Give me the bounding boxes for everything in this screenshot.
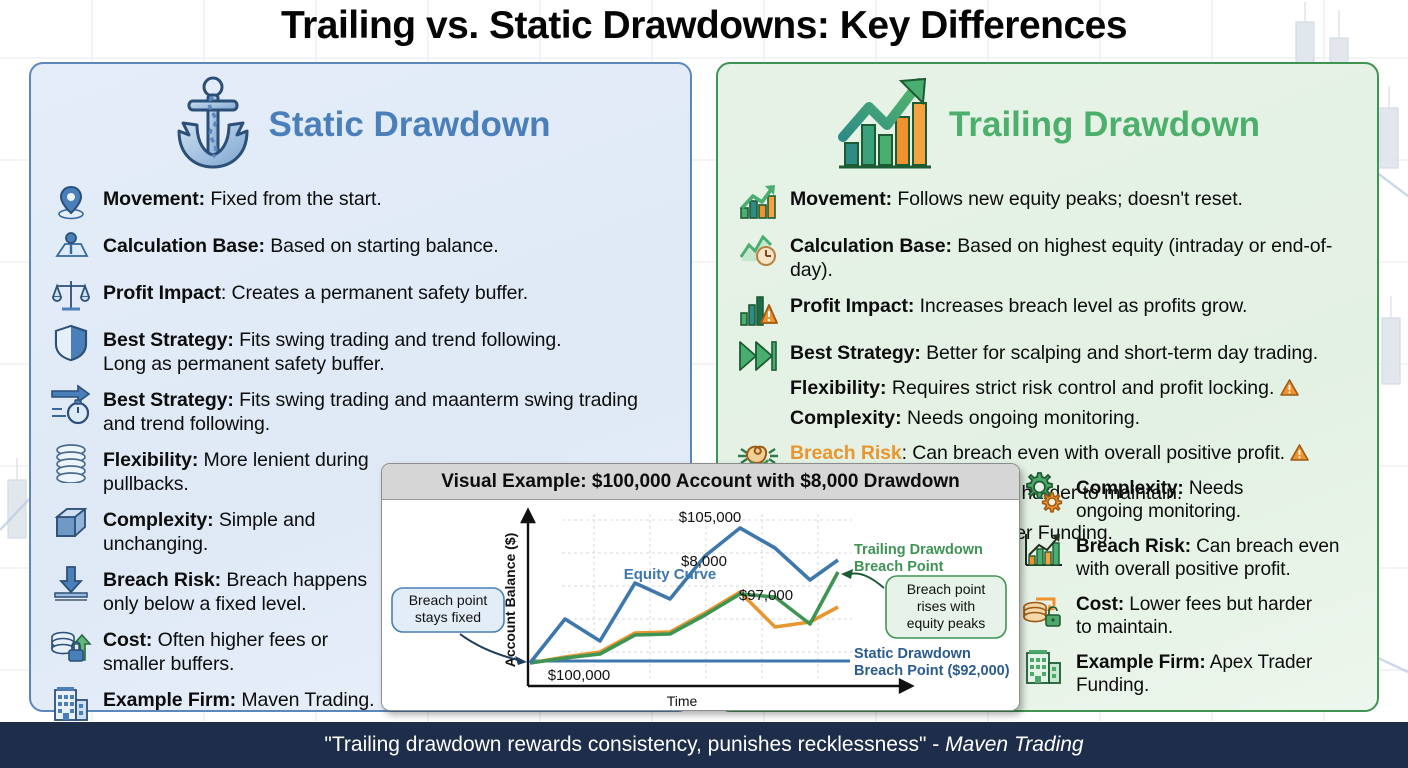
visual-example-chart-card: Visual Example: $100,000 Account with $8…: [381, 463, 1020, 711]
growth-chart-icon: [736, 182, 780, 222]
list-item-text: Complexity: Needs ongoing monitoring.: [1076, 472, 1243, 523]
bar-chart-arrow-icon: [1022, 530, 1066, 570]
legend-static-line1: Static Drawdown: [854, 646, 971, 662]
list-item-text: Cost: Lower fees but harder to maintain.: [1076, 588, 1312, 639]
footer-banner: "Trailing drawdown rewards consistency, …: [0, 722, 1408, 768]
list-subline: Flexibility: Requires strict risk contro…: [736, 376, 1361, 400]
trailing-panel-title: Trailing Drawdown: [949, 105, 1260, 145]
office-building-icon: [1022, 646, 1066, 686]
list-item-text: Flexibility: More lenient during pullbac…: [103, 443, 369, 496]
list-item: Best Strategy: Fits swing trading and ma…: [49, 383, 674, 436]
anchor-icon: [171, 73, 255, 178]
static-panel-header: Static Drawdown: [31, 64, 690, 182]
legend-equity-curve: Equity Curve: [624, 566, 717, 583]
list-item: Complexity: Needs ongoing monitoring.: [1022, 472, 1378, 523]
list-item-text: Profit Impact: Creates a permanent safet…: [103, 276, 528, 305]
list-item-text: Example Firm: Maven Trading.: [103, 683, 374, 712]
list-item: Cost: Lower fees but harder to maintain.: [1022, 588, 1378, 639]
rising-bar-chart-arrow-icon: [835, 75, 935, 176]
svg-text:Breach point: Breach point: [907, 581, 986, 597]
shield-icon: [49, 323, 93, 363]
list-item-text: Best Strategy: Fits swing trading and tr…: [103, 323, 561, 376]
database-lock-up-arrow-icon: [49, 623, 93, 663]
building-icon: [49, 683, 93, 723]
list-item: Movement: Fixed from the start.: [49, 182, 674, 222]
arrow-stopwatch-icon: [49, 383, 93, 423]
fast-forward-icon: [736, 336, 780, 376]
list-item-text: Complexity: Simple and unchanging.: [103, 503, 315, 556]
list-subline: Complexity: Needs ongoing monitoring.: [736, 406, 1361, 430]
list-item-text: Profit Impact: Increases breach level as…: [790, 289, 1247, 318]
warning-triangle-icon: [1290, 442, 1309, 464]
list-item-text: Example Firm: Apex Trader Funding.: [1076, 646, 1312, 697]
spring-coil-icon: [49, 443, 93, 483]
trailing-lower-items-list: Complexity: Needs ongoing monitoring.: [1022, 472, 1378, 704]
list-item-text: Calculation Base: Based on starting bala…: [103, 229, 499, 258]
list-item-text: Best Strategy: Better for scalping and s…: [790, 336, 1318, 365]
map-marker-plot-icon: [49, 229, 93, 269]
list-item: Profit Impact: Creates a permanent safet…: [49, 276, 674, 316]
down-arrow-floor-icon: [49, 563, 93, 603]
location-pin-icon: [49, 182, 93, 222]
chart-clock-icon: [736, 229, 780, 269]
chart-xlabel: Time: [667, 693, 698, 709]
legend-trailing-line1: Trailing Drawdown: [854, 542, 983, 558]
list-item-text: Breach Risk: Can breach even with overal…: [1076, 530, 1339, 581]
coins-unlock-icon: [1022, 588, 1066, 628]
svg-text:stays fixed: stays fixed: [415, 609, 481, 625]
list-item: Breach Risk: Can breach even with overal…: [1022, 530, 1378, 581]
annotation-97000: $97,000: [739, 587, 793, 604]
list-item: Best Strategy: Better for scalping and s…: [736, 336, 1361, 376]
list-item-text: Calculation Base: Based on highest equit…: [790, 229, 1361, 282]
list-subline-text: Flexibility: Requires strict risk contro…: [790, 376, 1299, 400]
chart-card-title: Visual Example: $100,000 Account with $8…: [382, 464, 1019, 500]
legend-trailing-line2: Breach Point: [854, 559, 944, 575]
list-item-text: Movement: Fixed from the start.: [103, 182, 382, 211]
trailing-panel-header: Trailing Drawdown: [718, 64, 1377, 182]
static-panel-title: Static Drawdown: [269, 105, 551, 145]
subline-spacer: [736, 406, 780, 430]
svg-text:rises with: rises with: [917, 598, 975, 614]
list-item: Example Firm: Apex Trader Funding.: [1022, 646, 1378, 697]
footer-quote: "Trailing drawdown rewards consistency, …: [324, 733, 1083, 757]
legend-static-line2: Breach Point ($92,000): [854, 663, 1010, 679]
list-item: Best Strategy: Fits swing trading and tr…: [49, 323, 674, 376]
list-item: Movement: Follows new equity peaks; does…: [736, 182, 1361, 222]
chart-plot-area: Account Balance ($) Time $105,000 $8,000…: [382, 500, 1019, 711]
list-item: Profit Impact: Increases breach level as…: [736, 289, 1361, 329]
list-item-text: Cost: Often higher fees or smaller buffe…: [103, 623, 328, 676]
page-title: Trailing vs. Static Drawdowns: Key Diffe…: [0, 4, 1408, 48]
list-item: Calculation Base: Based on highest equit…: [736, 229, 1361, 282]
annotation-100000: $100,000: [548, 667, 611, 684]
svg-text:equity peaks: equity peaks: [907, 615, 986, 631]
list-item: Calculation Base: Based on starting bala…: [49, 229, 674, 269]
list-item-text: Breach Risk: Breach happens only below a…: [103, 563, 367, 616]
list-subline-text: Complexity: Needs ongoing monitoring.: [790, 406, 1140, 430]
list-item-text: Breach Risk: Can breach even with overal…: [790, 436, 1309, 465]
warning-triangle-icon: [1280, 377, 1299, 399]
gears-icon: [1022, 472, 1066, 512]
scales-balance-icon: [49, 276, 93, 316]
annotation-105000: $105,000: [679, 509, 742, 526]
list-item-text: Movement: Follows new equity peaks; does…: [790, 182, 1243, 211]
callout-breach-point-rises: Breach point rises with equity peaks: [841, 569, 1006, 638]
bar-chart-warning-icon: [736, 289, 780, 329]
list-item-text: Best Strategy: Fits swing trading and ma…: [103, 383, 638, 436]
subline-spacer: [736, 376, 780, 400]
svg-text:Breach point: Breach point: [409, 592, 488, 608]
cube-icon: [49, 503, 93, 543]
equity-chart-svg: Account Balance ($) Time $105,000 $8,000…: [382, 500, 1020, 711]
